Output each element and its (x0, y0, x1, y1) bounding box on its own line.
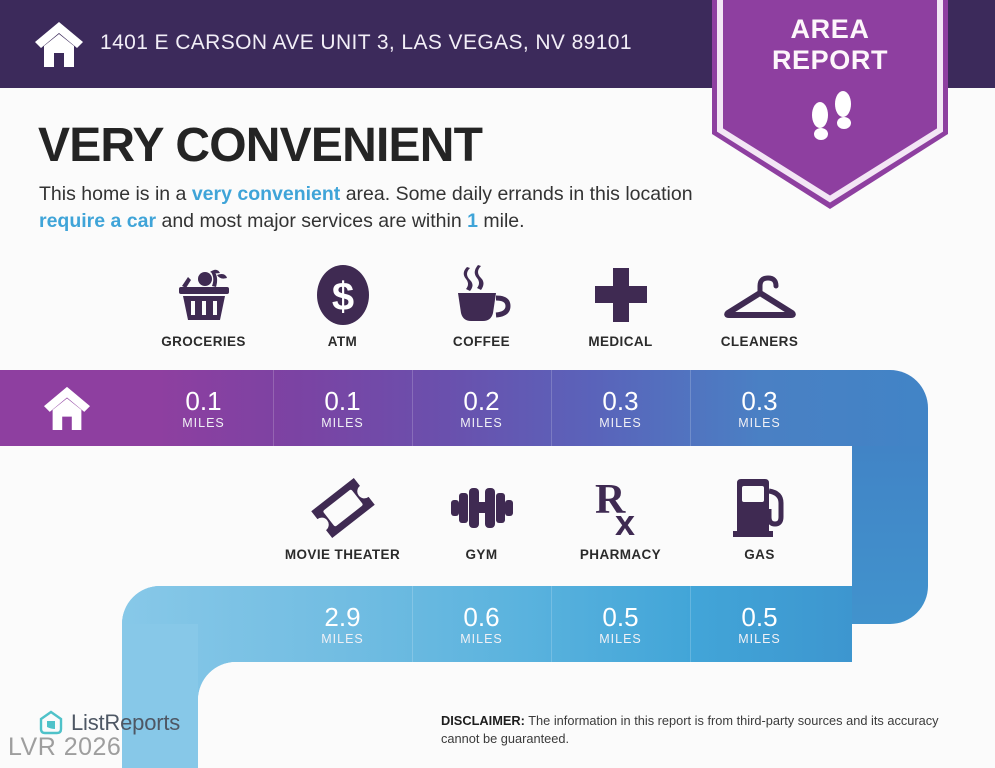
badge-line-2: REPORT (712, 45, 948, 76)
distance-value: 0.5 (741, 603, 777, 631)
badge-line-1: AREA (712, 14, 948, 45)
dollar-coin-icon: $ (273, 263, 412, 327)
distance-unit: MILES (460, 416, 503, 430)
distance-segment: 0.6 MILES (412, 586, 551, 662)
coat-hanger-icon (690, 263, 829, 327)
distance-segment: 0.5 MILES (690, 586, 829, 662)
distance-segment: 0.5 MILES (551, 586, 690, 662)
distance-segment: 0.2 MILES (412, 370, 551, 446)
amenity-cleaners: CLEANERS (690, 263, 829, 349)
intro-description: This home is in a very convenient area. … (39, 181, 704, 235)
house-icon (41, 385, 93, 431)
area-report-page: 1401 E CARSON AVE UNIT 3, LAS VEGAS, NV … (0, 0, 995, 768)
amenity-groceries: GROCERIES (134, 263, 273, 349)
intro-highlight-car: require a car (39, 210, 156, 232)
distance-value: 0.3 (741, 387, 777, 415)
amenity-label: GYM (412, 547, 551, 562)
disclaimer-label: DISCLAIMER: (441, 713, 525, 728)
distance-value: 0.1 (324, 387, 360, 415)
coffee-cup-icon (412, 263, 551, 327)
intro-part-1: This home is in a (39, 183, 192, 205)
distance-unit: MILES (321, 632, 364, 646)
amenity-gas: GAS (690, 476, 829, 562)
svg-text:$: $ (331, 275, 353, 319)
amenity-atm: $ ATM (273, 263, 412, 349)
rx-icon: R x (551, 476, 690, 540)
distance-segment: 0.3 MILES (551, 370, 690, 446)
disclaimer: DISCLAIMER: The information in this repo… (441, 712, 971, 748)
distance-segment: 0.3 MILES (690, 370, 829, 446)
grocery-basket-icon (134, 263, 273, 327)
dumbbell-icon (412, 476, 551, 540)
distance-segment: 0.1 MILES (134, 370, 273, 446)
svg-text:x: x (615, 502, 635, 539)
amenity-medical: MEDICAL (551, 263, 690, 349)
amenity-movie-theater: MOVIE THEATER (273, 476, 412, 562)
amenity-label: PHARMACY (551, 547, 690, 562)
intro-part-3: and most major services are within (156, 210, 467, 232)
movie-ticket-icon (273, 476, 412, 540)
medical-cross-icon (551, 263, 690, 327)
distance-unit: MILES (738, 416, 781, 430)
distance-segment: 2.9 MILES (273, 586, 412, 662)
watermark: LVR 2026 (8, 733, 121, 762)
amenity-label: MEDICAL (551, 334, 690, 349)
distance-unit: MILES (599, 416, 642, 430)
distance-segment: 0.1 MILES (273, 370, 412, 446)
distance-value: 2.9 (324, 603, 360, 631)
distance-unit: MILES (182, 416, 225, 430)
amenity-coffee: COFFEE (412, 263, 551, 349)
badge-title: AREA REPORT (712, 14, 948, 76)
distance-value: 0.1 (185, 387, 221, 415)
gas-pump-icon (690, 476, 829, 540)
amenity-gym: GYM (412, 476, 551, 562)
distance-value: 0.5 (602, 603, 638, 631)
intro-highlight-convenience: very convenient (192, 183, 340, 205)
distance-value: 0.3 (602, 387, 638, 415)
amenity-label: GROCERIES (134, 334, 273, 349)
amenity-pharmacy: R x PHARMACY (551, 476, 690, 562)
intro-part-2: area. Some daily errands in this locatio… (340, 183, 692, 205)
amenity-label: COFFEE (412, 334, 551, 349)
page-title: VERY CONVENIENT (38, 118, 482, 173)
distance-unit: MILES (460, 632, 503, 646)
area-report-badge: AREA REPORT (712, 0, 948, 213)
distance-value: 0.6 (463, 603, 499, 631)
amenity-label: GAS (690, 547, 829, 562)
house-icon (33, 20, 85, 68)
distance-unit: MILES (599, 632, 642, 646)
distance-unit: MILES (321, 416, 364, 430)
amenity-label: MOVIE THEATER (273, 547, 412, 562)
home-marker-segment (0, 370, 134, 446)
footprints-icon (808, 89, 858, 145)
distance-value: 0.2 (463, 387, 499, 415)
intro-highlight-miles: 1 (467, 210, 478, 232)
amenity-label: CLEANERS (690, 334, 829, 349)
amenity-label: ATM (273, 334, 412, 349)
intro-part-4: mile. (478, 210, 525, 232)
property-address: 1401 E CARSON AVE UNIT 3, LAS VEGAS, NV … (100, 31, 632, 55)
distance-unit: MILES (738, 632, 781, 646)
